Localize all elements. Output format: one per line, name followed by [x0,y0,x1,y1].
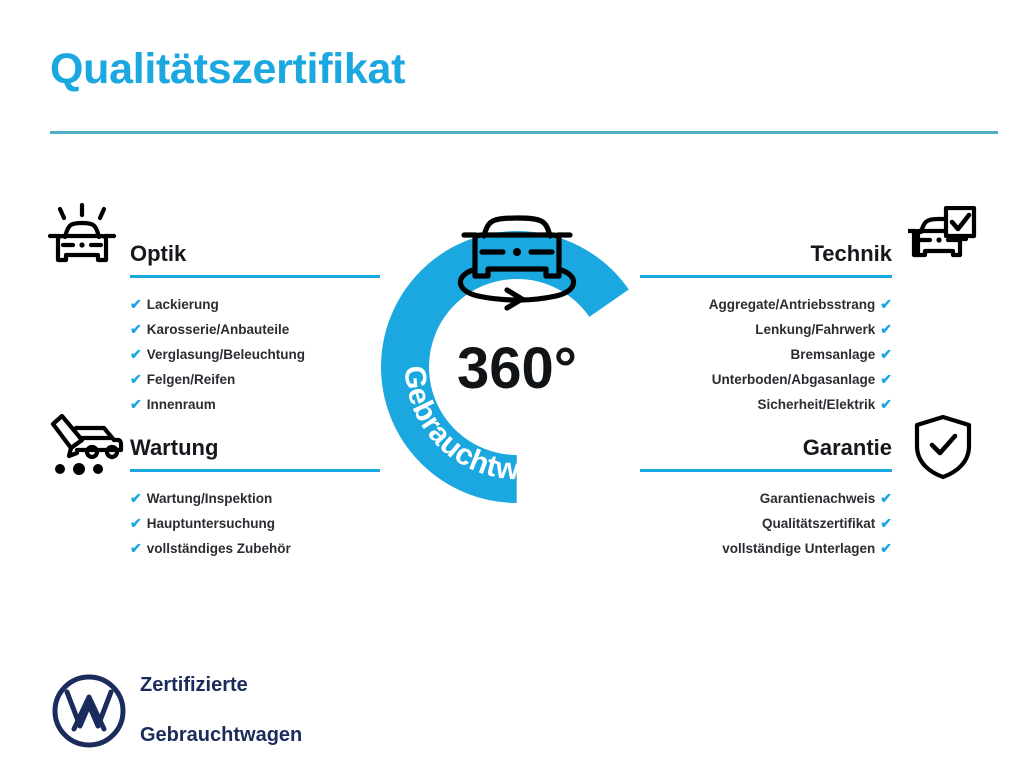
check-icon: ✔ [880,371,892,387]
section-divider [640,469,892,472]
vw-certified-logo: Zertifizierte Gebrauchtwagen [52,648,302,773]
check-icon: ✔ [880,346,892,362]
badge-360-gebrauchtwagen-check: Gebrauchtwagen-Check 360° [372,192,662,512]
checklist-technik: Aggregate/Antriebsstrang✔ Lenkung/Fahrwe… [640,292,892,417]
list-item: ✔Innenraum [130,392,380,417]
section-divider [640,275,892,278]
section-technik: Technik Aggregate/Antriebsstrang✔ Lenkun… [640,240,892,417]
list-item: Aggregate/Antriebsstrang✔ [640,292,892,317]
check-icon: ✔ [880,296,892,312]
check-icon: ✔ [880,515,892,531]
list-item: Qualitätszertifikat✔ [640,511,892,536]
check-icon: ✔ [130,321,142,337]
list-item-label: Unterboden/Abgasanlage [712,372,876,387]
footer-line-2: Gebrauchtwagen [140,723,302,748]
check-icon: ✔ [880,490,892,506]
car-service-pencil-icon [46,414,124,483]
check-icon: ✔ [130,490,142,506]
list-item: ✔vollständiges Zubehör [130,536,380,561]
checklist-garantie: Garantienachweis✔ Qualitätszertifikat✔ v… [640,486,892,561]
section-garantie: Garantie Garantienachweis✔ Qualitätszert… [640,434,892,561]
page-title: Qualitätszertifikat [50,48,405,91]
check-icon: ✔ [130,296,142,312]
vw-logo-icon [52,674,126,748]
list-item-label: Innenraum [147,397,216,412]
car-polish-icon [46,203,118,278]
checklist-wartung: ✔Wartung/Inspektion ✔Hauptuntersuchung ✔… [130,486,380,561]
list-item: ✔Hauptuntersuchung [130,511,380,536]
check-icon: ✔ [130,396,142,412]
list-item-label: Qualitätszertifikat [762,516,875,531]
list-item-label: Lackierung [147,297,219,312]
list-item: vollständige Unterlagen✔ [640,536,892,561]
check-icon: ✔ [130,515,142,531]
list-item-label: Verglasung/Beleuchtung [147,347,305,362]
list-item-label: Karosserie/Anbauteile [147,322,290,337]
footer-line-1: Zertifizierte [140,673,302,698]
list-item: ✔Verglasung/Beleuchtung [130,342,380,367]
list-item-label: Wartung/Inspektion [147,491,273,506]
checklist-optik: ✔Lackierung ✔Karosserie/Anbauteile ✔Verg… [130,292,380,417]
section-title: Garantie [640,434,892,462]
title-divider [50,131,998,134]
list-item-label: Hauptuntersuchung [147,516,275,531]
section-header: Technik [640,240,892,278]
section-header: Optik [130,240,380,278]
check-icon: ✔ [130,346,142,362]
badge-center-label: 360° [457,336,577,401]
list-item-label: Bremsanlage [790,347,875,362]
section-wartung: Wartung ✔Wartung/Inspektion ✔Hauptunters… [130,434,380,561]
list-item: Bremsanlage✔ [640,342,892,367]
list-item: Sicherheit/Elektrik✔ [640,392,892,417]
list-item-label: Aggregate/Antriebsstrang [709,297,876,312]
list-item: ✔Lackierung [130,292,380,317]
check-icon: ✔ [880,396,892,412]
section-divider [130,275,380,278]
section-title: Wartung [130,434,380,462]
list-item-label: vollständige Unterlagen [722,541,875,556]
list-item: ✔Karosserie/Anbauteile [130,317,380,342]
section-title: Technik [640,240,892,268]
check-icon: ✔ [880,540,892,556]
section-optik: Optik ✔Lackierung ✔Karosserie/Anbauteile… [130,240,380,417]
list-item-label: vollständiges Zubehör [147,541,291,556]
section-header: Wartung [130,434,380,472]
list-item: ✔Wartung/Inspektion [130,486,380,511]
check-icon: ✔ [880,321,892,337]
check-icon: ✔ [130,371,142,387]
list-item-label: Garantienachweis [760,491,876,506]
section-divider [130,469,380,472]
list-item-label: Sicherheit/Elektrik [757,397,875,412]
list-item-label: Felgen/Reifen [147,372,236,387]
check-icon: ✔ [130,540,142,556]
car-checkbox-icon [908,206,978,273]
section-title: Optik [130,240,380,268]
shield-check-icon [912,414,974,485]
list-item: ✔Felgen/Reifen [130,367,380,392]
list-item: Unterboden/Abgasanlage✔ [640,367,892,392]
list-item: Garantienachweis✔ [640,486,892,511]
list-item: Lenkung/Fahrwerk✔ [640,317,892,342]
section-header: Garantie [640,434,892,472]
list-item-label: Lenkung/Fahrwerk [755,322,875,337]
footer-logo-text: Zertifizierte Gebrauchtwagen [140,648,302,773]
